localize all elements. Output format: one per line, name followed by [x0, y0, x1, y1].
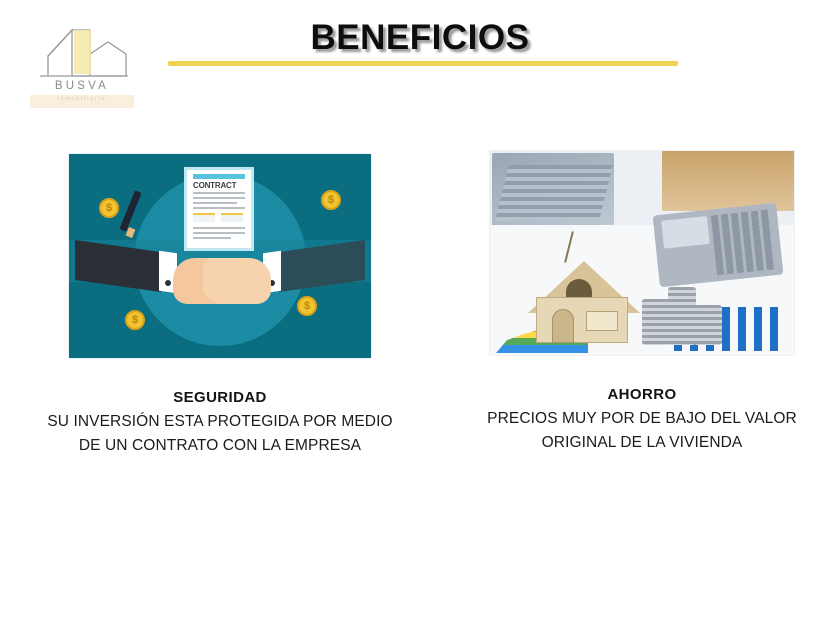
house-model-coins-calculator-photo — [489, 150, 795, 356]
right-hand — [203, 258, 271, 304]
house-window — [586, 311, 618, 331]
benefit-card-ahorro: AHORRO PRECIOS MUY POR DE BAJO DEL VALOR… — [462, 150, 822, 455]
coin-icon: $ — [297, 296, 317, 316]
slide-canvas: BUSVA inmobiliaria BENEFICIOS CONTRACT — [0, 0, 840, 630]
logo-wordmark: BUSVA — [24, 80, 140, 92]
coin-icon: $ — [321, 190, 341, 210]
coin-stack — [694, 305, 722, 345]
wood-board — [662, 151, 794, 211]
card-body: SU INVERSIÓN ESTA PROTEGIDA POR MEDIO DE… — [40, 410, 400, 459]
card-caption: SEGURIDAD SU INVERSIÓN ESTA PROTEGIDA PO… — [40, 387, 400, 458]
coin-icon: $ — [125, 310, 145, 330]
title-underline-rule — [168, 61, 678, 66]
pen-tip — [126, 227, 136, 238]
coin-icon: $ — [99, 198, 119, 218]
card-caption: AHORRO PRECIOS MUY POR DE BAJO DEL VALOR… — [462, 384, 822, 455]
card-title: SEGURIDAD — [40, 387, 400, 410]
coin-stack — [668, 287, 696, 345]
pen-icon — [119, 190, 141, 232]
laptop-keyboard — [495, 165, 613, 221]
contract-label: CONTRACT — [193, 181, 245, 190]
benefit-card-seguridad: CONTRACT $ $ $ $ — [40, 150, 400, 458]
calculator-icon — [653, 203, 784, 288]
house-door — [552, 309, 574, 343]
document-header-bar — [193, 174, 245, 179]
logo-tagline: inmobiliaria — [24, 96, 140, 102]
contract-document-icon: CONTRACT — [187, 170, 251, 248]
page-title: BENEFICIOS — [0, 18, 840, 58]
card-title: AHORRO — [462, 384, 822, 407]
calculator-screen — [661, 216, 710, 249]
calculator-keys — [711, 210, 775, 276]
handshake-contract-illustration: CONTRACT $ $ $ $ — [68, 153, 372, 359]
left-cuff-button — [165, 280, 171, 286]
coin-stack — [642, 299, 670, 345]
card-body: PRECIOS MUY POR DE BAJO DEL VALOR ORIGIN… — [462, 407, 822, 456]
